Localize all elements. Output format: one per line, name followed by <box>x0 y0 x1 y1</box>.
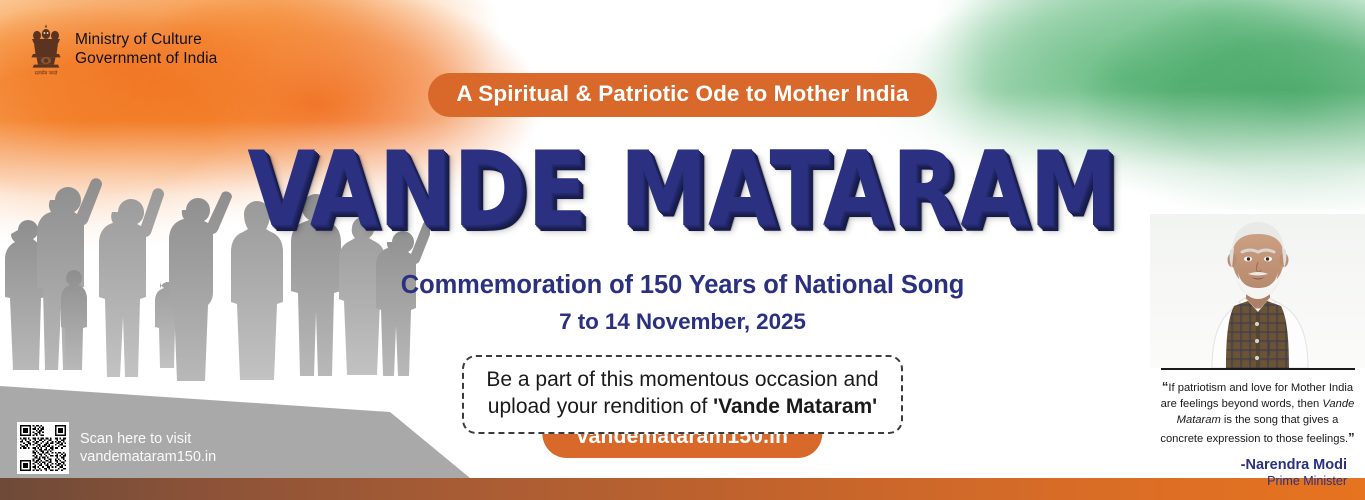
tagline-banner: A Spiritual & Patriotic Ode to Mother In… <box>428 73 936 117</box>
cta-line-1: Be a part of this momentous occasion and <box>486 368 878 391</box>
vande-mataram-banner: सत्यमेव जयते Ministry of Culture Governm… <box>0 0 1365 500</box>
subtitle: Commemoration of 150 Years of National S… <box>401 271 964 300</box>
prime-minister-quote: “If patriotism and love for Mother India… <box>1150 378 1365 448</box>
prime-minister-portrait <box>1150 214 1365 368</box>
qr-scan-block[interactable]: Scan here to visit vandemataram150.in <box>17 422 216 474</box>
cta-line-2-prefix: upload your rendition of <box>488 395 713 418</box>
prime-minister-block: “If patriotism and love for Mother India… <box>1150 214 1365 488</box>
quote-attribution-role: Prime Minister <box>1150 474 1365 488</box>
quote-close-mark: ” <box>1348 430 1355 445</box>
call-to-action-group: vandemataram150.in Be a part of this mom… <box>462 355 902 434</box>
page-title: VANDE MATARAM <box>247 139 1117 242</box>
quote-divider <box>1161 368 1355 370</box>
quote-attribution-name: -Narendra Modi <box>1150 457 1365 473</box>
cta-line-2-bold: 'Vande Mataram' <box>713 395 877 418</box>
event-dates: 7 to 14 November, 2025 <box>559 309 806 335</box>
call-to-action-box: Be a part of this momentous occasion and… <box>462 355 902 434</box>
qr-caption: Scan here to visit vandemataram150.in <box>80 430 216 466</box>
qr-code-icon[interactable] <box>17 422 69 474</box>
qr-caption-line-2: vandemataram150.in <box>80 449 216 465</box>
qr-caption-line-1: Scan here to visit <box>80 431 191 447</box>
